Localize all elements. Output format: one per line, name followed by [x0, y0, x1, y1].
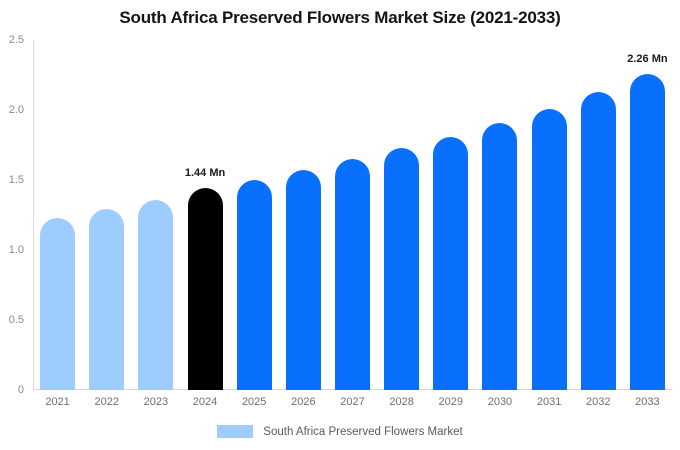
x-axis-tick-label: 2024	[180, 396, 229, 408]
legend-swatch	[217, 425, 253, 438]
bar-2027[interactable]	[335, 159, 370, 390]
bar-2033[interactable]	[630, 74, 665, 390]
chart-container: South Africa Preserved Flowers Market Si…	[0, 0, 680, 450]
x-axis-tick-label: 2030	[475, 396, 524, 408]
bars-layer: 1.44 Mn2.26 Mn	[33, 40, 672, 390]
x-axis-tick-label: 2026	[279, 396, 328, 408]
x-axis-tick-label: 2028	[377, 396, 426, 408]
x-axis-tick-label: 2022	[82, 396, 131, 408]
bar-group[interactable]	[482, 40, 517, 390]
x-axis-tick-label: 2027	[328, 396, 377, 408]
bar-2024[interactable]	[188, 188, 223, 390]
y-axis-tick-label: 0	[0, 384, 32, 396]
bar-2030[interactable]	[482, 123, 517, 390]
y-axis-tick-label: 2.5	[0, 34, 32, 46]
x-axis-tick-label: 2021	[33, 396, 82, 408]
y-axis-tick-label: 1.5	[0, 174, 32, 186]
legend-item[interactable]: South Africa Preserved Flowers Market	[217, 425, 462, 438]
x-axis-tick-label: 2031	[525, 396, 574, 408]
bar-group[interactable]	[286, 40, 321, 390]
bar-group[interactable]	[138, 40, 173, 390]
chart-legend: South Africa Preserved Flowers Market	[0, 425, 680, 438]
x-axis-tick-label: 2029	[426, 396, 475, 408]
bar-2028[interactable]	[384, 148, 419, 390]
bar-group[interactable]	[581, 40, 616, 390]
bar-2021[interactable]	[40, 218, 75, 390]
bar-group[interactable]	[237, 40, 272, 390]
bar-group[interactable]	[384, 40, 419, 390]
bar-2031[interactable]	[532, 109, 567, 390]
bar-2023[interactable]	[138, 200, 173, 390]
y-axis-tick-label: 0.5	[0, 314, 32, 326]
x-axis-tick-label: 2032	[574, 396, 623, 408]
bar-group[interactable]: 1.44 Mn	[188, 40, 223, 390]
y-axis-tick-label: 1.0	[0, 244, 32, 256]
bar-group[interactable]	[532, 40, 567, 390]
legend-label: South Africa Preserved Flowers Market	[263, 426, 462, 438]
x-axis-tick-label: 2023	[131, 396, 180, 408]
x-axis-tick-label: 2025	[230, 396, 279, 408]
chart-title: South Africa Preserved Flowers Market Si…	[0, 8, 680, 28]
bar-2029[interactable]	[433, 137, 468, 390]
bar-value-label: 2.26 Mn	[627, 53, 667, 65]
bar-value-label: 1.44 Mn	[185, 167, 225, 179]
bar-group[interactable]	[40, 40, 75, 390]
bar-group[interactable]: 2.26 Mn	[630, 40, 665, 390]
bar-2026[interactable]	[286, 170, 321, 390]
x-axis-tick-labels: 2021202220232024202520262027202820292030…	[33, 396, 672, 416]
bar-2032[interactable]	[581, 92, 616, 390]
bar-group[interactable]	[89, 40, 124, 390]
y-axis-tick-label: 2.0	[0, 104, 32, 116]
plot-area: 00.51.01.52.02.5 1.44 Mn2.26 Mn	[33, 40, 672, 390]
bar-group[interactable]	[433, 40, 468, 390]
x-axis-tick-label: 2033	[623, 396, 672, 408]
bar-group[interactable]	[335, 40, 370, 390]
bar-2022[interactable]	[89, 209, 124, 390]
bar-2025[interactable]	[237, 180, 272, 390]
